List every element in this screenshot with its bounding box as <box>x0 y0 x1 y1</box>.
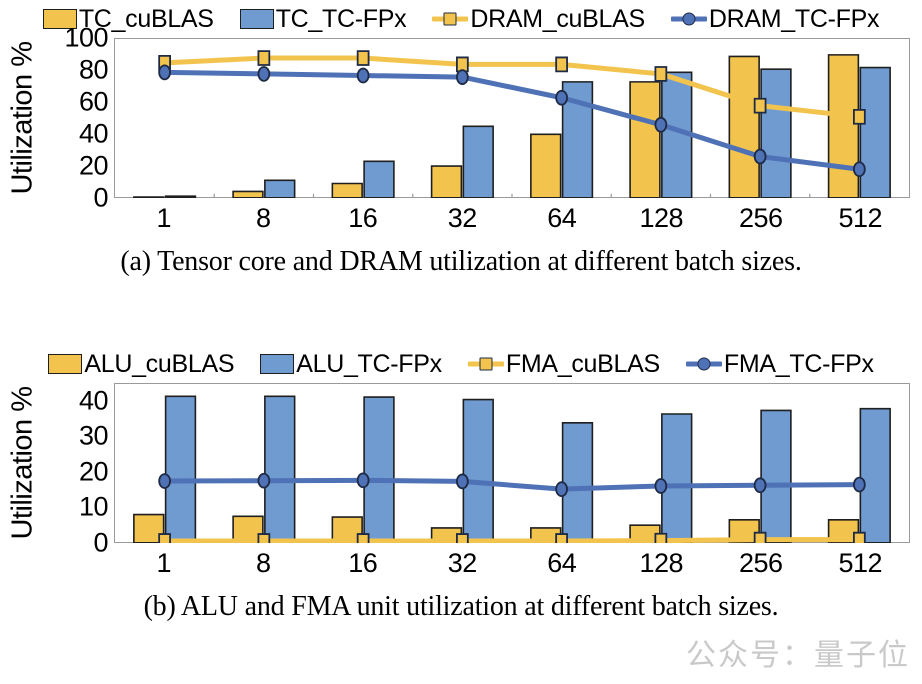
line-marker-square <box>655 67 666 81</box>
legend-label: ALU_cuBLAS <box>84 352 234 377</box>
legend-label: FMA_cuBLAS <box>506 352 660 377</box>
caption-a: (a) Tensor core and DRAM utilization at … <box>0 246 922 278</box>
legend-label: DRAM_cuBLAS <box>470 7 645 32</box>
line-marker-square <box>457 534 468 543</box>
bar <box>332 184 362 198</box>
legend-label: TC_TC-FPx <box>276 7 407 32</box>
bar <box>364 397 394 543</box>
y-tick-label: 40 <box>79 385 108 416</box>
y-tick-label: 100 <box>64 23 108 54</box>
legend-item-dram-cublas: DRAM_cuBLAS <box>432 7 645 32</box>
chart-canvas-a <box>115 39 909 198</box>
legend-swatch-line-square-icon <box>468 354 504 374</box>
line-marker-square <box>556 534 567 543</box>
bar <box>662 414 692 543</box>
x-tick-label: 32 <box>413 543 513 583</box>
line-marker-square <box>159 534 170 543</box>
legend-swatch-bar-icon <box>260 354 294 374</box>
y-tick-label: 20 <box>79 456 108 487</box>
line-marker-circle <box>755 478 766 492</box>
x-tick-label: 8 <box>214 198 314 238</box>
x-tick-label: 8 <box>214 543 314 583</box>
chart-canvas-b <box>115 384 909 543</box>
y-axis-ticks-b: 010203040 <box>46 383 114 543</box>
line-marker-square <box>556 57 567 71</box>
legend-swatch-bar-icon <box>240 9 274 29</box>
legend-swatch-line-circle-icon <box>686 354 722 374</box>
y-tick-label: 10 <box>79 492 108 523</box>
y-axis-ticks-a: 020406080100 <box>46 38 114 198</box>
y-axis-label-b: Utilization % <box>0 383 46 543</box>
bar <box>265 396 295 542</box>
bar <box>364 161 394 198</box>
legend-item-dram-tcfpx: DRAM_TC-FPx <box>671 7 879 32</box>
line-marker-circle <box>854 162 865 176</box>
line-marker-circle <box>854 478 865 492</box>
line-marker-circle <box>655 479 666 493</box>
caption-b: (b) ALU and FMA unit utilization at diff… <box>0 591 922 623</box>
x-tick-label: 1 <box>114 543 214 583</box>
line-marker-circle <box>457 474 468 488</box>
x-axis-ticks-b: 18163264128256512 <box>114 543 910 583</box>
legend-item-alu-tcfpx: ALU_TC-FPx <box>260 352 442 377</box>
bar <box>265 180 295 197</box>
line-marker-square <box>655 534 666 543</box>
x-tick-label: 256 <box>711 543 811 583</box>
bar <box>463 400 493 543</box>
y-tick-label: 80 <box>79 55 108 86</box>
legend-label: DRAM_TC-FPx <box>709 7 879 32</box>
bar <box>761 69 791 198</box>
bar <box>829 55 859 198</box>
legend-item-fma-tcfpx: FMA_TC-FPx <box>686 352 874 377</box>
line-marker-square <box>258 51 269 65</box>
legend-item-fma-cublas: FMA_cuBLAS <box>468 352 660 377</box>
line-marker-circle <box>358 69 369 83</box>
x-tick-label: 512 <box>811 543 911 583</box>
line-marker-square <box>755 99 766 113</box>
bar <box>531 134 561 198</box>
y-tick-label: 40 <box>79 119 108 150</box>
y-axis-label-a: Utilization % <box>0 38 46 198</box>
bar <box>630 82 660 198</box>
bar <box>729 56 759 197</box>
line-marker-square <box>258 534 269 543</box>
x-tick-label: 512 <box>811 198 911 238</box>
bar <box>860 68 890 198</box>
bar <box>563 423 593 543</box>
legend-swatch-line-circle-icon <box>671 9 707 29</box>
bar <box>432 166 462 198</box>
line-marker-circle <box>258 67 269 81</box>
y-tick-label: 20 <box>79 151 108 182</box>
x-tick-label: 32 <box>413 198 513 238</box>
line-marker-circle <box>556 91 567 105</box>
line-marker-circle <box>655 118 666 132</box>
line-marker-square <box>358 51 369 65</box>
x-axis-ticks-a: 18163264128256512 <box>114 198 910 238</box>
x-tick-label: 16 <box>313 198 413 238</box>
line-marker-square <box>854 110 865 124</box>
legend-label: FMA_TC-FPx <box>724 352 874 377</box>
x-tick-label: 128 <box>612 543 712 583</box>
watermark: 公众号：量子位 <box>686 630 910 674</box>
x-tick-label: 1 <box>114 198 214 238</box>
x-tick-label: 256 <box>711 198 811 238</box>
legend-item-tc-tcfpx: TC_TC-FPx <box>240 7 407 32</box>
line-marker-square <box>854 533 865 543</box>
line-marker-square <box>358 534 369 543</box>
legend-b: ALU_cuBLAS ALU_TC-FPx FMA_cuBLAS FMA_TC-… <box>0 345 922 383</box>
legend-item-alu-cublas: ALU_cuBLAS <box>48 352 234 377</box>
x-tick-label: 64 <box>512 543 612 583</box>
figure-a: TC_cuBLAS TC_TC-FPx DRAM_cuBLAS DRAM_TC-… <box>0 0 922 330</box>
bar <box>860 409 890 543</box>
y-tick-label: 30 <box>79 421 108 452</box>
bar <box>233 191 263 197</box>
line-marker-circle <box>159 474 170 488</box>
bar <box>761 410 791 542</box>
plot-area-b <box>114 383 910 543</box>
line-marker-square <box>755 533 766 543</box>
line-marker-circle <box>358 473 369 487</box>
x-tick-label: 16 <box>313 543 413 583</box>
line-marker-circle <box>457 70 468 84</box>
bar <box>166 396 196 542</box>
bar <box>463 126 493 197</box>
x-tick-label: 64 <box>512 198 612 238</box>
legend-a: TC_cuBLAS TC_TC-FPx DRAM_cuBLAS DRAM_TC-… <box>0 0 922 38</box>
line-marker-circle <box>258 474 269 488</box>
line-marker-circle <box>159 65 170 79</box>
line-marker-circle <box>556 482 567 496</box>
legend-swatch-bar-icon <box>48 354 82 374</box>
plot-area-a <box>114 38 910 198</box>
legend-label: ALU_TC-FPx <box>296 352 442 377</box>
legend-swatch-line-square-icon <box>432 9 468 29</box>
y-tick-label: 60 <box>79 87 108 118</box>
x-tick-label: 128 <box>612 198 712 238</box>
line-marker-circle <box>755 150 766 164</box>
